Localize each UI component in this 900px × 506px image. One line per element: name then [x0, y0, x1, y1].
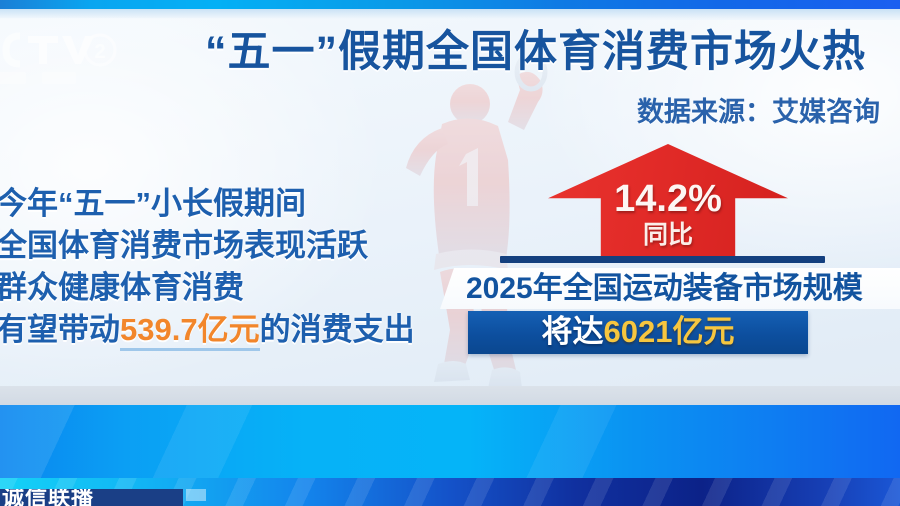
copy-line-4-suffix: 的消费支出 — [260, 312, 415, 347]
cctv2-watermark-icon: 2 — [0, 24, 118, 90]
bottom-blue-band — [0, 405, 900, 478]
bottom-program-bug: 诚信联播 — [0, 489, 183, 506]
body-copy-block: 今年“五一”小长假期间 全国体育消费市场表现活跃 群众健康体育消费 有望带动53… — [0, 183, 466, 351]
top-accent-bar — [0, 0, 900, 9]
copy-line-3: 群众健康体育消费 — [0, 267, 466, 309]
page-title: “五一”假期全国体育消费市场火热 — [205, 28, 885, 76]
yoy-growth-stat: 14.2% 同比 — [548, 144, 788, 262]
bottom-bug-chip — [186, 489, 206, 501]
bottom-grey-band — [0, 386, 900, 405]
callout-value-prefix: 将达 — [542, 314, 604, 349]
callout-value-text: 将达6021亿元 — [468, 313, 808, 351]
bottom-program-bug-text: 诚信联播 — [2, 489, 94, 506]
band-sheen — [0, 405, 900, 478]
highlight-amount: 539.7亿元 — [120, 312, 260, 351]
copy-line-2: 全国体育消费市场表现活跃 — [0, 225, 466, 267]
growth-label: 同比 — [548, 220, 788, 250]
divider-rule — [500, 256, 825, 263]
callout-caption-text: 2025年全国运动装备市场规模 — [466, 271, 863, 307]
data-source-label: 数据来源：艾媒咨询 — [637, 95, 880, 129]
copy-line-1: 今年“五一”小长假期间 — [0, 183, 466, 225]
callout-value-bar: 将达6021亿元 — [468, 311, 808, 354]
broadcast-graphic: 2 “五一”假期全国体育消费市场火热 数据来源：艾媒咨询 今年“五一”小长假期间… — [0, 0, 900, 506]
callout-caption-bar: 2025年全国运动装备市场规模 — [440, 268, 900, 309]
copy-line-4: 有望带动539.7亿元的消费支出 — [0, 309, 466, 351]
growth-percent: 14.2% — [548, 178, 788, 220]
svg-text:2: 2 — [94, 41, 105, 63]
copy-line-4-prefix: 有望带动 — [0, 312, 120, 347]
callout-value-amount: 6021亿元 — [604, 314, 735, 349]
